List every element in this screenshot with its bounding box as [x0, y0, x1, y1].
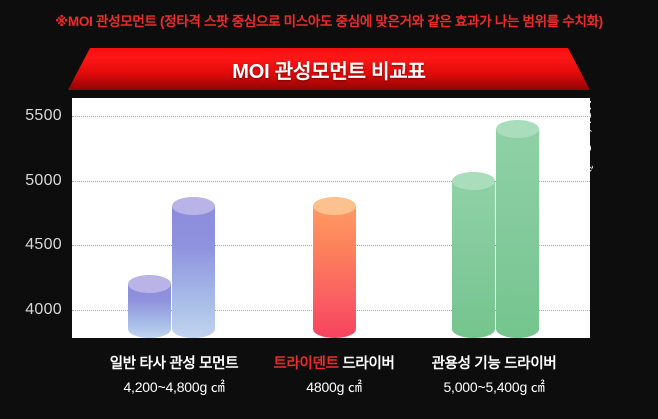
y-axis-tick-label: 4000	[0, 301, 62, 319]
bar-cap	[452, 172, 495, 190]
bar-body	[172, 206, 215, 338]
bar-green-5400	[496, 120, 539, 338]
category-name: 관용성 기능 드라이버	[384, 352, 604, 373]
bar-purple-4800	[172, 197, 215, 338]
category-name-highlight: 트라이덴트	[273, 356, 338, 372]
bar-red-4800	[313, 197, 356, 338]
page-title: MOI 관성모먼트 비교표	[232, 55, 426, 84]
plot-area	[72, 98, 590, 338]
category-labels: 일반 타사 관성 모먼트4,200~4,800g ㎠트라이덴트 드라이버4800…	[72, 352, 590, 414]
y-axis-title: MOI (g G ㎠)	[578, 100, 597, 270]
title-banner: MOI 관성모먼트 비교표	[68, 48, 590, 90]
bar-body	[496, 129, 539, 338]
gridline	[72, 116, 590, 117]
page-caption: ※MOI 관성모먼트 (정타격 스팟 중심으로 미스아도 중심에 맞은거와 같은…	[0, 10, 658, 30]
bar-cap	[128, 275, 171, 293]
y-axis-tick-label: 5500	[0, 107, 62, 125]
bar-body	[313, 206, 356, 338]
bar-body	[452, 181, 495, 338]
y-axis-tick-label: 5000	[0, 172, 62, 190]
chart-page: ※MOI 관성모먼트 (정타격 스팟 중심으로 미스아도 중심에 맞은거와 같은…	[0, 0, 658, 419]
bar-cap	[496, 120, 539, 138]
category-label-3: 관용성 기능 드라이버5,000~5,400g ㎠	[384, 352, 604, 397]
bar-purple-4200	[128, 275, 171, 338]
category-value: 5,000~5,400g ㎠	[384, 377, 604, 397]
bar-green-5000	[452, 172, 495, 338]
y-axis-tick-label: 4500	[0, 236, 62, 254]
